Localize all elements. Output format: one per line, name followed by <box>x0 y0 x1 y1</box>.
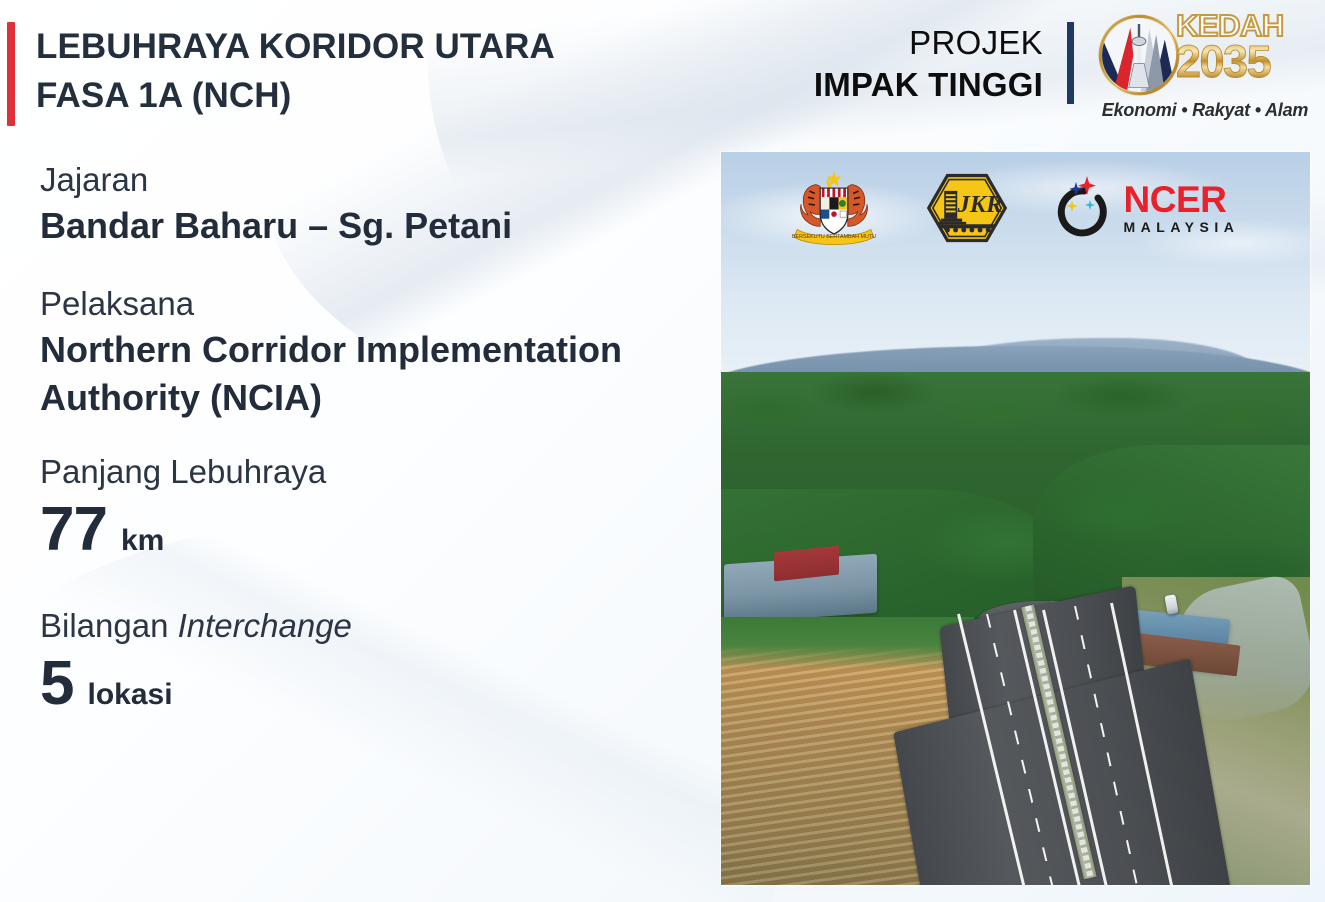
title-accent-bar <box>7 22 15 126</box>
field-jajaran-label: Jajaran <box>40 158 700 202</box>
stat-panjang-label: Panjang Lebuhraya <box>40 450 700 494</box>
ncer-name: NCER <box>1124 182 1240 218</box>
kedah-logo-year: 2035 <box>1176 40 1312 84</box>
slide-canvas: LEBUHRAYA KORIDOR UTARA FASA 1A (NCH) PR… <box>0 0 1325 902</box>
photo-scene: BERSEKUTU BERTAMBAH MUTU <box>721 152 1310 885</box>
stat-interchange-label-italic: Interchange <box>178 607 352 644</box>
kedah-wordmark: KEDAH 2035 <box>1176 10 1312 84</box>
ncer-logo: NCER MALAYSIA <box>1054 173 1244 243</box>
ncer-wordmark: NCER MALAYSIA <box>1124 182 1240 235</box>
slide-header: LEBUHRAYA KORIDOR UTARA FASA 1A (NCH) PR… <box>0 0 1325 140</box>
photo-logo-row: BERSEKUTU BERTAMBAH MUTU <box>721 168 1310 248</box>
field-pelaksana: Pelaksana Northern Corridor Implementati… <box>40 282 700 422</box>
field-jajaran-value-line-1: Bandar Baharu – Sg. Petani <box>40 202 700 250</box>
header-right-cluster: PROJEK IMPAK TINGGI <box>814 0 1325 140</box>
impak-tinggi-label: IMPAK TINGGI <box>814 64 1043 106</box>
ncer-ring-icon <box>1054 174 1120 242</box>
photo-vehicle <box>1165 595 1179 616</box>
svg-text:JKR: JKR <box>956 191 1002 218</box>
jkr-hexagon-icon: JKR <box>926 173 1008 243</box>
svg-text:BERSEKUTU BERTAMBAH MUTU: BERSEKUTU BERTAMBAH MUTU <box>791 234 875 240</box>
stat-interchange-number: 5 <box>40 648 73 720</box>
page-title: LEBUHRAYA KORIDOR UTARA FASA 1A (NCH) <box>36 22 696 120</box>
field-pelaksana-value-line-1: Northern Corridor Implementation <box>40 326 700 374</box>
photo-highway <box>721 152 1310 885</box>
page-title-line-1: LEBUHRAYA KORIDOR UTARA <box>36 22 696 71</box>
content-panel: Jajaran Bandar Baharu – Sg. Petani Pelak… <box>40 158 700 720</box>
projek-label: PROJEK <box>814 22 1043 64</box>
stat-panjang-unit: km <box>121 521 164 561</box>
field-pelaksana-label: Pelaksana <box>40 282 700 326</box>
header-divider <box>1067 22 1074 104</box>
kedah-2035-logo: KEDAH 2035 Ekonomi • Rakyat • Alam <box>1096 8 1311 128</box>
stat-bilangan-interchange: Bilangan Interchange 5 lokasi <box>40 604 700 720</box>
stat-interchange-row: 5 lokasi <box>40 648 700 720</box>
field-jajaran: Jajaran Bandar Baharu – Sg. Petani <box>40 158 700 250</box>
stat-panjang-lebuhraya: Panjang Lebuhraya 77 km <box>40 450 700 566</box>
field-pelaksana-value-line-2: Authority (NCIA) <box>40 374 700 422</box>
stat-interchange-unit: lokasi <box>87 675 172 715</box>
coat-of-arms-icon: BERSEKUTU BERTAMBAH MUTU <box>788 168 880 248</box>
stat-panjang-row: 77 km <box>40 494 700 566</box>
ncer-country: MALAYSIA <box>1124 219 1240 235</box>
stat-interchange-label: Bilangan Interchange <box>40 604 700 648</box>
stat-interchange-label-plain: Bilangan <box>40 607 178 644</box>
page-title-line-2: FASA 1A (NCH) <box>36 71 696 120</box>
kedah-tower-emblem-icon <box>1096 12 1182 98</box>
project-photo: BERSEKUTU BERTAMBAH MUTU <box>721 152 1310 885</box>
projek-impak-tinggi-block: PROJEK IMPAK TINGGI <box>814 0 1043 106</box>
stat-panjang-number: 77 <box>40 494 107 566</box>
field-pelaksana-value: Northern Corridor Implementation Authori… <box>40 326 700 422</box>
kedah-logo-tagline: Ekonomi • Rakyat • Alam <box>1098 100 1312 121</box>
field-jajaran-value: Bandar Baharu – Sg. Petani <box>40 202 700 250</box>
